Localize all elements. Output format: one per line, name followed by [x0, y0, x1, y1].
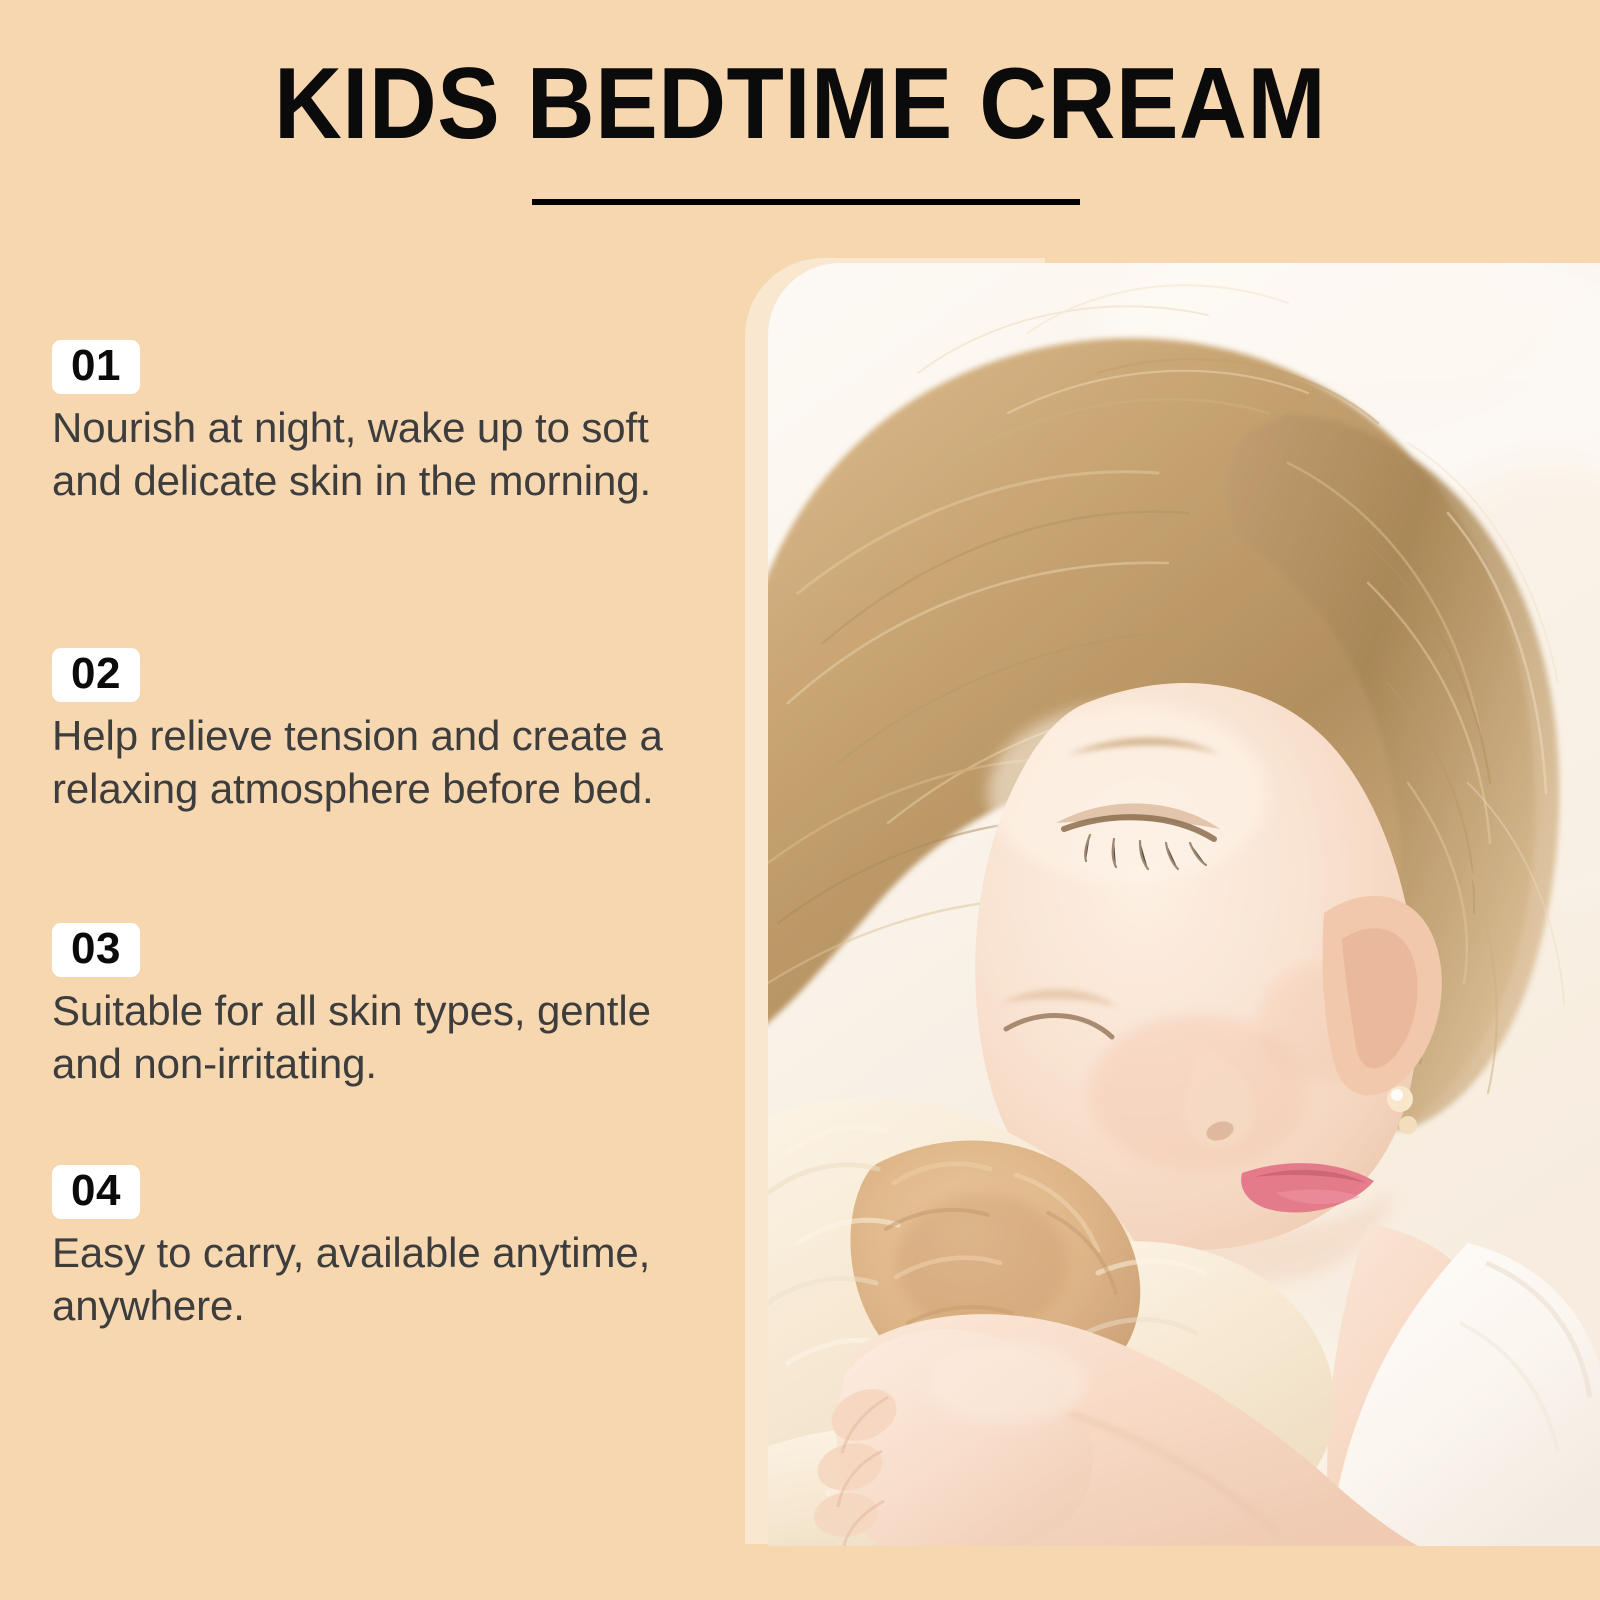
product-feature-poster: KIDS BEDTIME CREAM 01 Nourish at night, …	[0, 0, 1600, 1600]
sleeping-child-photo	[768, 263, 1600, 1546]
feature-description: Suitable for all skin types, gentle and …	[52, 984, 712, 1090]
feature-number-badge: 04	[52, 1165, 140, 1219]
feature-description: Nourish at night, wake up to soft and de…	[52, 401, 712, 507]
feature-number-badge: 01	[52, 340, 140, 394]
feature-item-04: 04 Easy to carry, available anytime, any…	[52, 1165, 732, 1332]
feature-item-01: 01 Nourish at night, wake up to soft and…	[52, 340, 732, 507]
image-panel	[745, 258, 1600, 1546]
feature-item-02: 02 Help relieve tension and create a rel…	[52, 648, 732, 815]
page-title: KIDS BEDTIME CREAM	[56, 48, 1544, 160]
poster-header: KIDS BEDTIME CREAM	[0, 0, 1600, 230]
feature-description: Help relieve tension and create a relaxi…	[52, 709, 718, 815]
feature-description: Easy to carry, available anytime, anywhe…	[52, 1226, 732, 1332]
feature-number-badge: 02	[52, 648, 140, 702]
title-divider	[532, 199, 1080, 205]
product-photo	[768, 263, 1600, 1546]
feature-number-badge: 03	[52, 923, 140, 977]
feature-item-03: 03 Suitable for all skin types, gentle a…	[52, 923, 732, 1090]
